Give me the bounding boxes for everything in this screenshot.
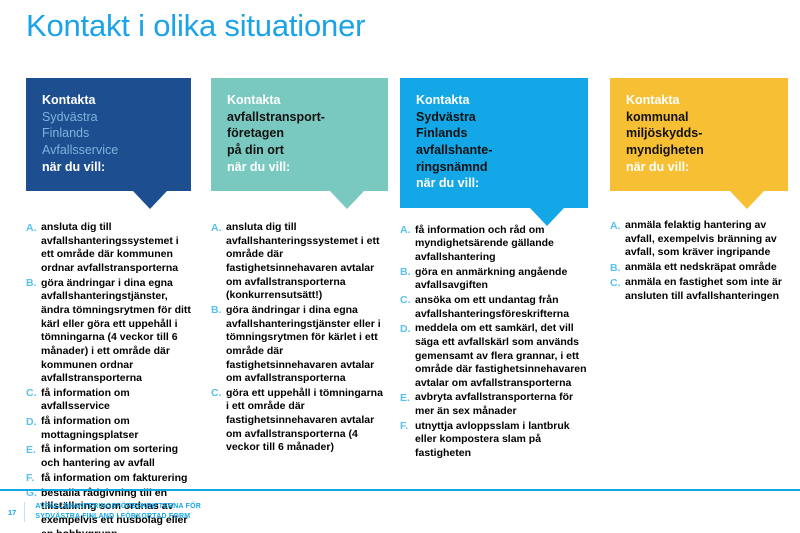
bubble-line: Kontakta — [416, 92, 572, 109]
list-marker: B. — [26, 277, 41, 291]
list-holder-3: A.få information och råd om myndighetsär… — [400, 208, 588, 461]
bubble-line: Kontakta — [227, 92, 372, 109]
list-item-text: anmäla en fastighet som inte är ansluten… — [625, 276, 788, 303]
list-item: E.få information om sortering och hanter… — [26, 443, 191, 470]
bubble-line: myndigheten — [626, 142, 772, 159]
list-item: E.avbryta avfallstransporterna för mer ä… — [400, 391, 588, 418]
list-item: A.ansluta dig till avfallshanteringssyst… — [211, 221, 388, 303]
bubble-line: på din ort — [227, 142, 372, 159]
bubble-line: företagen — [227, 125, 372, 142]
callout-bubble-4: Kontakta kommunal miljöskydds- myndighet… — [610, 78, 788, 191]
list-item: B.anmäla ett nedskräpat område — [610, 261, 788, 275]
callout-bubble-2: Kontakta avfallstransport- företagen på … — [211, 78, 388, 191]
list-item: F.få information om fakturering — [26, 472, 191, 486]
list-item: A.anmäla felaktig hantering av avfall, e… — [610, 219, 788, 260]
item-list-2: A.ansluta dig till avfallshanteringssyst… — [211, 221, 388, 455]
bubble-line: Finlands — [416, 125, 572, 142]
list-item-text: få information om avfallsservice — [41, 387, 191, 414]
list-marker: C. — [610, 276, 625, 290]
bubble-line: när du vill: — [42, 159, 175, 176]
list-marker: B. — [610, 261, 625, 275]
list-holder-1: A.ansluta dig till avfallshanteringssyst… — [26, 191, 191, 533]
column-avfallshanteringsnamnd: Kontakta Sydvästra Finlands avfallshante… — [400, 78, 600, 533]
column-sydvastra-finlands-avfallsservice: Kontakta Sydvästra Finlands Avfallsservi… — [0, 78, 203, 533]
bubble-line: miljöskydds- — [626, 125, 772, 142]
list-item-text: ansluta dig till avfallshanteringssystem… — [226, 221, 388, 303]
bubble-line: när du vill: — [416, 175, 572, 192]
bubble-line: när du vill: — [626, 159, 772, 176]
list-marker: E. — [400, 391, 415, 405]
bubble-line: Kontakta — [42, 92, 175, 109]
list-item-text: få information om mottagningsplatser — [41, 415, 191, 442]
list-marker: A. — [400, 224, 415, 238]
list-item: D.få information om mottagningsplatser — [26, 415, 191, 442]
list-marker: A. — [211, 221, 226, 235]
bubble-line: Kontakta — [626, 92, 772, 109]
list-marker: C. — [26, 387, 41, 401]
bubble-line: Finlands — [42, 125, 175, 142]
list-marker: B. — [211, 304, 226, 318]
item-list-1: A.ansluta dig till avfallshanteringssyst… — [26, 221, 191, 533]
list-marker: F. — [400, 420, 415, 434]
list-item: A.få information och råd om myndighetsär… — [400, 224, 588, 265]
list-item-text: göra ändringar i dina egna avfallshanter… — [226, 304, 388, 386]
bubble-wrap-2: Kontakta avfallstransport- företagen på … — [211, 78, 388, 191]
list-item-text: ansluta dig till avfallshanteringssystem… — [41, 221, 191, 276]
list-item-text: avbryta avfallstransporterna för mer än … — [415, 391, 588, 418]
list-item-text: göra en anmärkning angående avfallsavgif… — [415, 266, 588, 293]
list-marker: C. — [211, 387, 226, 401]
list-holder-4: A.anmäla felaktig hantering av avfall, e… — [610, 191, 788, 303]
columns-container: Kontakta Sydvästra Finlands Avfallsservi… — [0, 78, 800, 533]
list-marker: B. — [400, 266, 415, 280]
list-item: F.utnyttja avloppsslam i lantbruk eller … — [400, 420, 588, 461]
bubble-line: ringsnämnd — [416, 159, 572, 176]
list-item: A.ansluta dig till avfallshanteringssyst… — [26, 221, 191, 276]
item-list-3: A.få information och råd om myndighetsär… — [400, 224, 588, 461]
list-marker: C. — [400, 294, 415, 308]
list-marker: E. — [26, 443, 41, 457]
list-item: B.göra ändringar i dina egna avfallshant… — [26, 277, 191, 386]
list-item: C.ansöka om ett undantag från avfallshan… — [400, 294, 588, 321]
list-item-text: meddela om ett samkärl, det vill säga et… — [415, 322, 588, 390]
column-kommunal-miljoskyddsmyndigheten: Kontakta kommunal miljöskydds- myndighet… — [600, 78, 800, 533]
list-item: C.anmäla en fastighet som inte är anslut… — [610, 276, 788, 303]
list-item: B.göra ändringar i dina egna avfallshant… — [211, 304, 388, 386]
callout-bubble-3: Kontakta Sydvästra Finlands avfallshante… — [400, 78, 588, 208]
footer-caption: AVFALLSHANTERINGSFÖRESKRIFTERNA FÖR SYDV… — [35, 502, 201, 522]
list-item-text: göra ett uppehåll i tömningarna i ett om… — [226, 387, 388, 455]
bubble-wrap-1: Kontakta Sydvästra Finlands Avfallsservi… — [26, 78, 191, 191]
list-holder-2: A.ansluta dig till avfallshanteringssyst… — [211, 191, 388, 455]
list-item: C.göra ett uppehåll i tömningarna i ett … — [211, 387, 388, 455]
infographic-page: Kontakt i olika situationer Kontakta Syd… — [0, 0, 800, 533]
bubble-line: Sydvästra — [416, 109, 572, 126]
bubble-line: kommunal — [626, 109, 772, 126]
list-item-text: anmäla felaktig hantering av avfall, exe… — [625, 219, 788, 260]
list-item-text: få information om fakturering — [41, 472, 191, 486]
bubble-line: Avfallsservice — [42, 142, 175, 159]
bubble-line: när du vill: — [227, 159, 372, 176]
footer-caption-line-1: AVFALLSHANTERINGSFÖRESKRIFTERNA FÖR — [35, 502, 201, 512]
footer: 17 AVFALLSHANTERINGSFÖRESKRIFTERNA FÖR S… — [0, 489, 800, 533]
list-item-text: göra ändringar i dina egna avfallshanter… — [41, 277, 191, 386]
list-item-text: utnyttja avloppsslam i lantbruk eller ko… — [415, 420, 588, 461]
list-item: C.få information om avfallsservice — [26, 387, 191, 414]
footer-caption-line-2: SYDVÄSTRA FINLAND I FÖRKORTAD FORM — [35, 512, 201, 522]
bubble-line: avfallshante- — [416, 142, 572, 159]
list-marker: F. — [26, 472, 41, 486]
list-item: D.meddela om ett samkärl, det vill säga … — [400, 322, 588, 390]
column-avfallstransportforetagen: Kontakta avfallstransport- företagen på … — [203, 78, 400, 533]
list-marker: D. — [400, 322, 415, 336]
list-marker: A. — [610, 219, 625, 233]
bubble-wrap-3: Kontakta Sydvästra Finlands avfallshante… — [400, 78, 588, 208]
page-title: Kontakt i olika situationer — [26, 8, 365, 44]
list-marker: A. — [26, 221, 41, 235]
list-item-text: få information och råd om myndighetsären… — [415, 224, 588, 265]
footer-divider — [24, 502, 25, 522]
bubble-line: Sydvästra — [42, 109, 175, 126]
list-item-text: anmäla ett nedskräpat område — [625, 261, 788, 275]
list-item-text: få information om sortering och hanterin… — [41, 443, 191, 470]
callout-bubble-1: Kontakta Sydvästra Finlands Avfallsservi… — [26, 78, 191, 191]
bubble-line: avfallstransport- — [227, 109, 372, 126]
list-marker: D. — [26, 415, 41, 429]
list-item: B.göra en anmärkning angående avfallsavg… — [400, 266, 588, 293]
item-list-4: A.anmäla felaktig hantering av avfall, e… — [610, 219, 788, 303]
bubble-wrap-4: Kontakta kommunal miljöskydds- myndighet… — [610, 78, 788, 191]
page-number: 17 — [0, 508, 24, 517]
list-item-text: ansöka om ett undantag från avfallshante… — [415, 294, 588, 321]
